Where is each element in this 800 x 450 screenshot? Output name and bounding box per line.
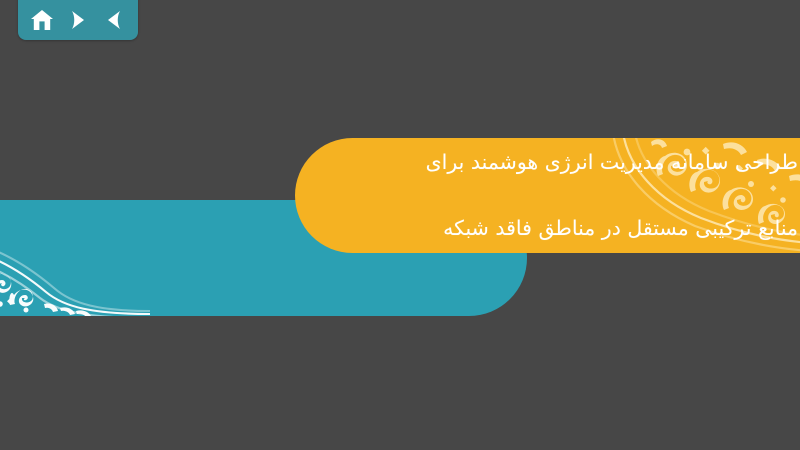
triangle-right-icon (69, 10, 87, 30)
triangle-left-icon (105, 10, 123, 30)
next-slide-button[interactable] (63, 7, 93, 33)
title-banner: طراحی سامانه مدیریت انرژی هوشمند برای من… (295, 138, 800, 253)
previous-slide-button[interactable] (99, 7, 129, 33)
arabesque-corner-ornament-teal (0, 200, 150, 316)
title-line-2: منابع ترکیبی مستقل در مناطق فاقد شبکه (295, 212, 798, 245)
slide-navigation-bar (18, 0, 138, 40)
page-title: طراحی سامانه مدیریت انرژی هوشمند برای من… (295, 138, 800, 253)
title-line-1: طراحی سامانه مدیریت انرژی هوشمند برای (295, 146, 798, 179)
home-icon (30, 9, 54, 31)
home-button[interactable] (27, 7, 57, 33)
slide-canvas: طراحی سامانه مدیریت انرژی هوشمند برای من… (0, 0, 800, 450)
